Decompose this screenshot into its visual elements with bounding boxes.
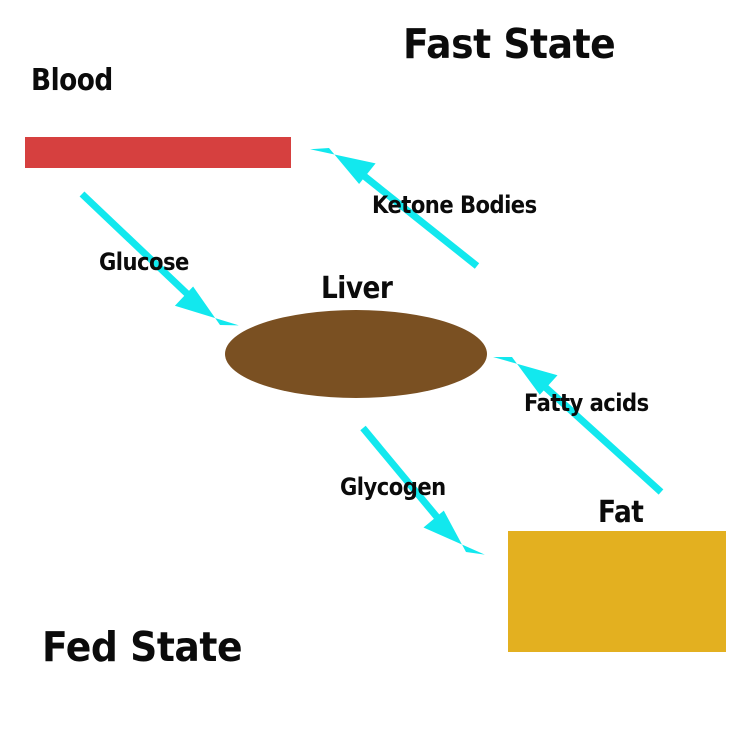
fed-state-title: Fed State bbox=[42, 627, 242, 668]
metabolism-diagram: Fast State Fed State Blood Liver Fat Glu… bbox=[0, 0, 736, 736]
liver-compartment-ellipse[interactable] bbox=[225, 310, 487, 398]
blood-label: Blood bbox=[31, 66, 113, 96]
blood-compartment-rect[interactable] bbox=[25, 137, 291, 168]
liver-label: Liver bbox=[321, 274, 392, 304]
fast-state-title: Fast State bbox=[403, 24, 615, 65]
fatty-acids-flux-label: Fatty acids bbox=[524, 391, 649, 415]
fat-label: Fat bbox=[598, 498, 643, 528]
fatty-acids-arrow[interactable] bbox=[493, 357, 661, 492]
ketone-bodies-flux-label: Ketone Bodies bbox=[372, 193, 537, 217]
fat-compartment-rect[interactable] bbox=[508, 531, 726, 652]
glucose-flux-label: Glucose bbox=[99, 250, 189, 274]
glycogen-flux-label: Glycogen bbox=[340, 475, 446, 499]
